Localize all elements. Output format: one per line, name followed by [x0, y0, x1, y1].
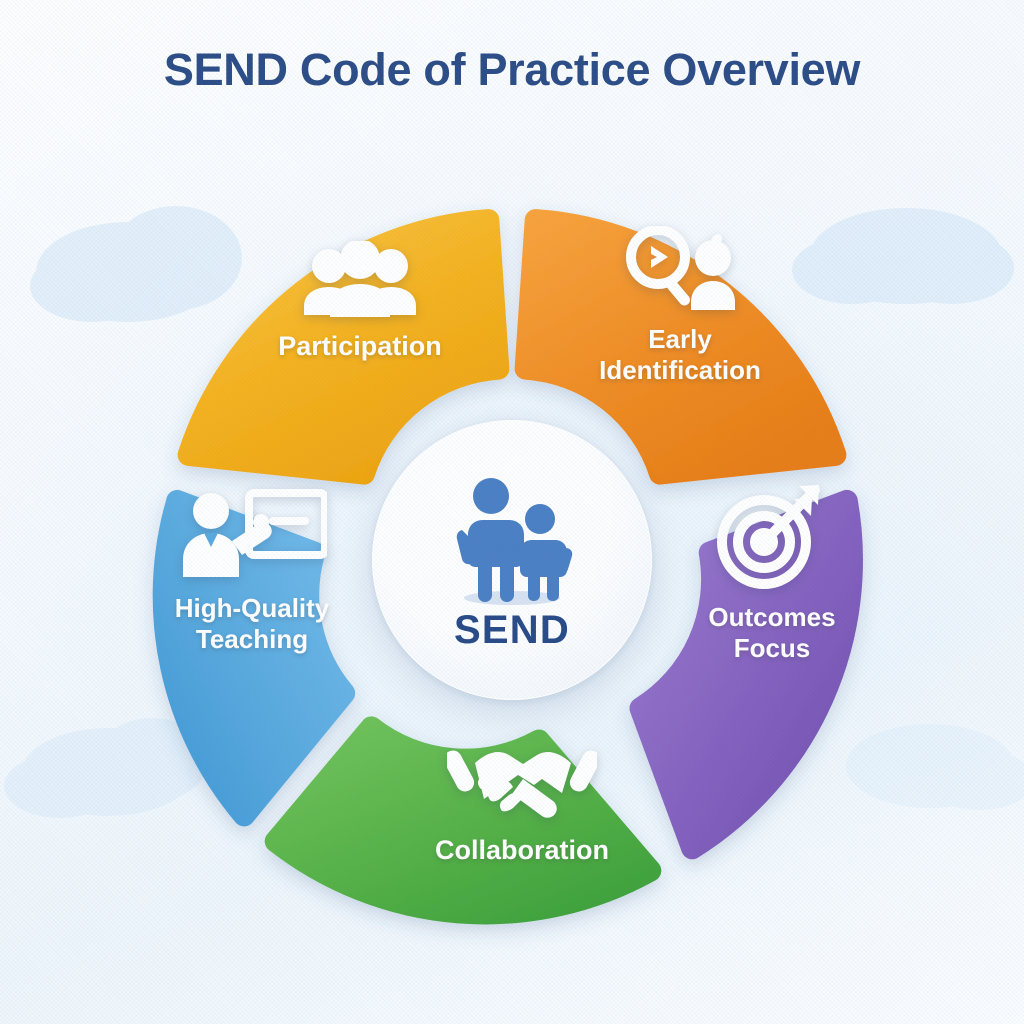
adult-and-child-icon: [446, 474, 578, 606]
center-hub[interactable]: SEND: [372, 420, 652, 700]
infographic-canvas: SEND Code of Practice Overview: [0, 0, 1024, 1024]
segment-outcomes-focus[interactable]: [641, 501, 852, 848]
segment-high-quality-teaching[interactable]: [164, 501, 345, 816]
segment-collaboration[interactable]: [276, 727, 651, 913]
page-title: SEND Code of Practice Overview: [0, 44, 1024, 96]
center-hub-label: SEND: [454, 608, 570, 653]
